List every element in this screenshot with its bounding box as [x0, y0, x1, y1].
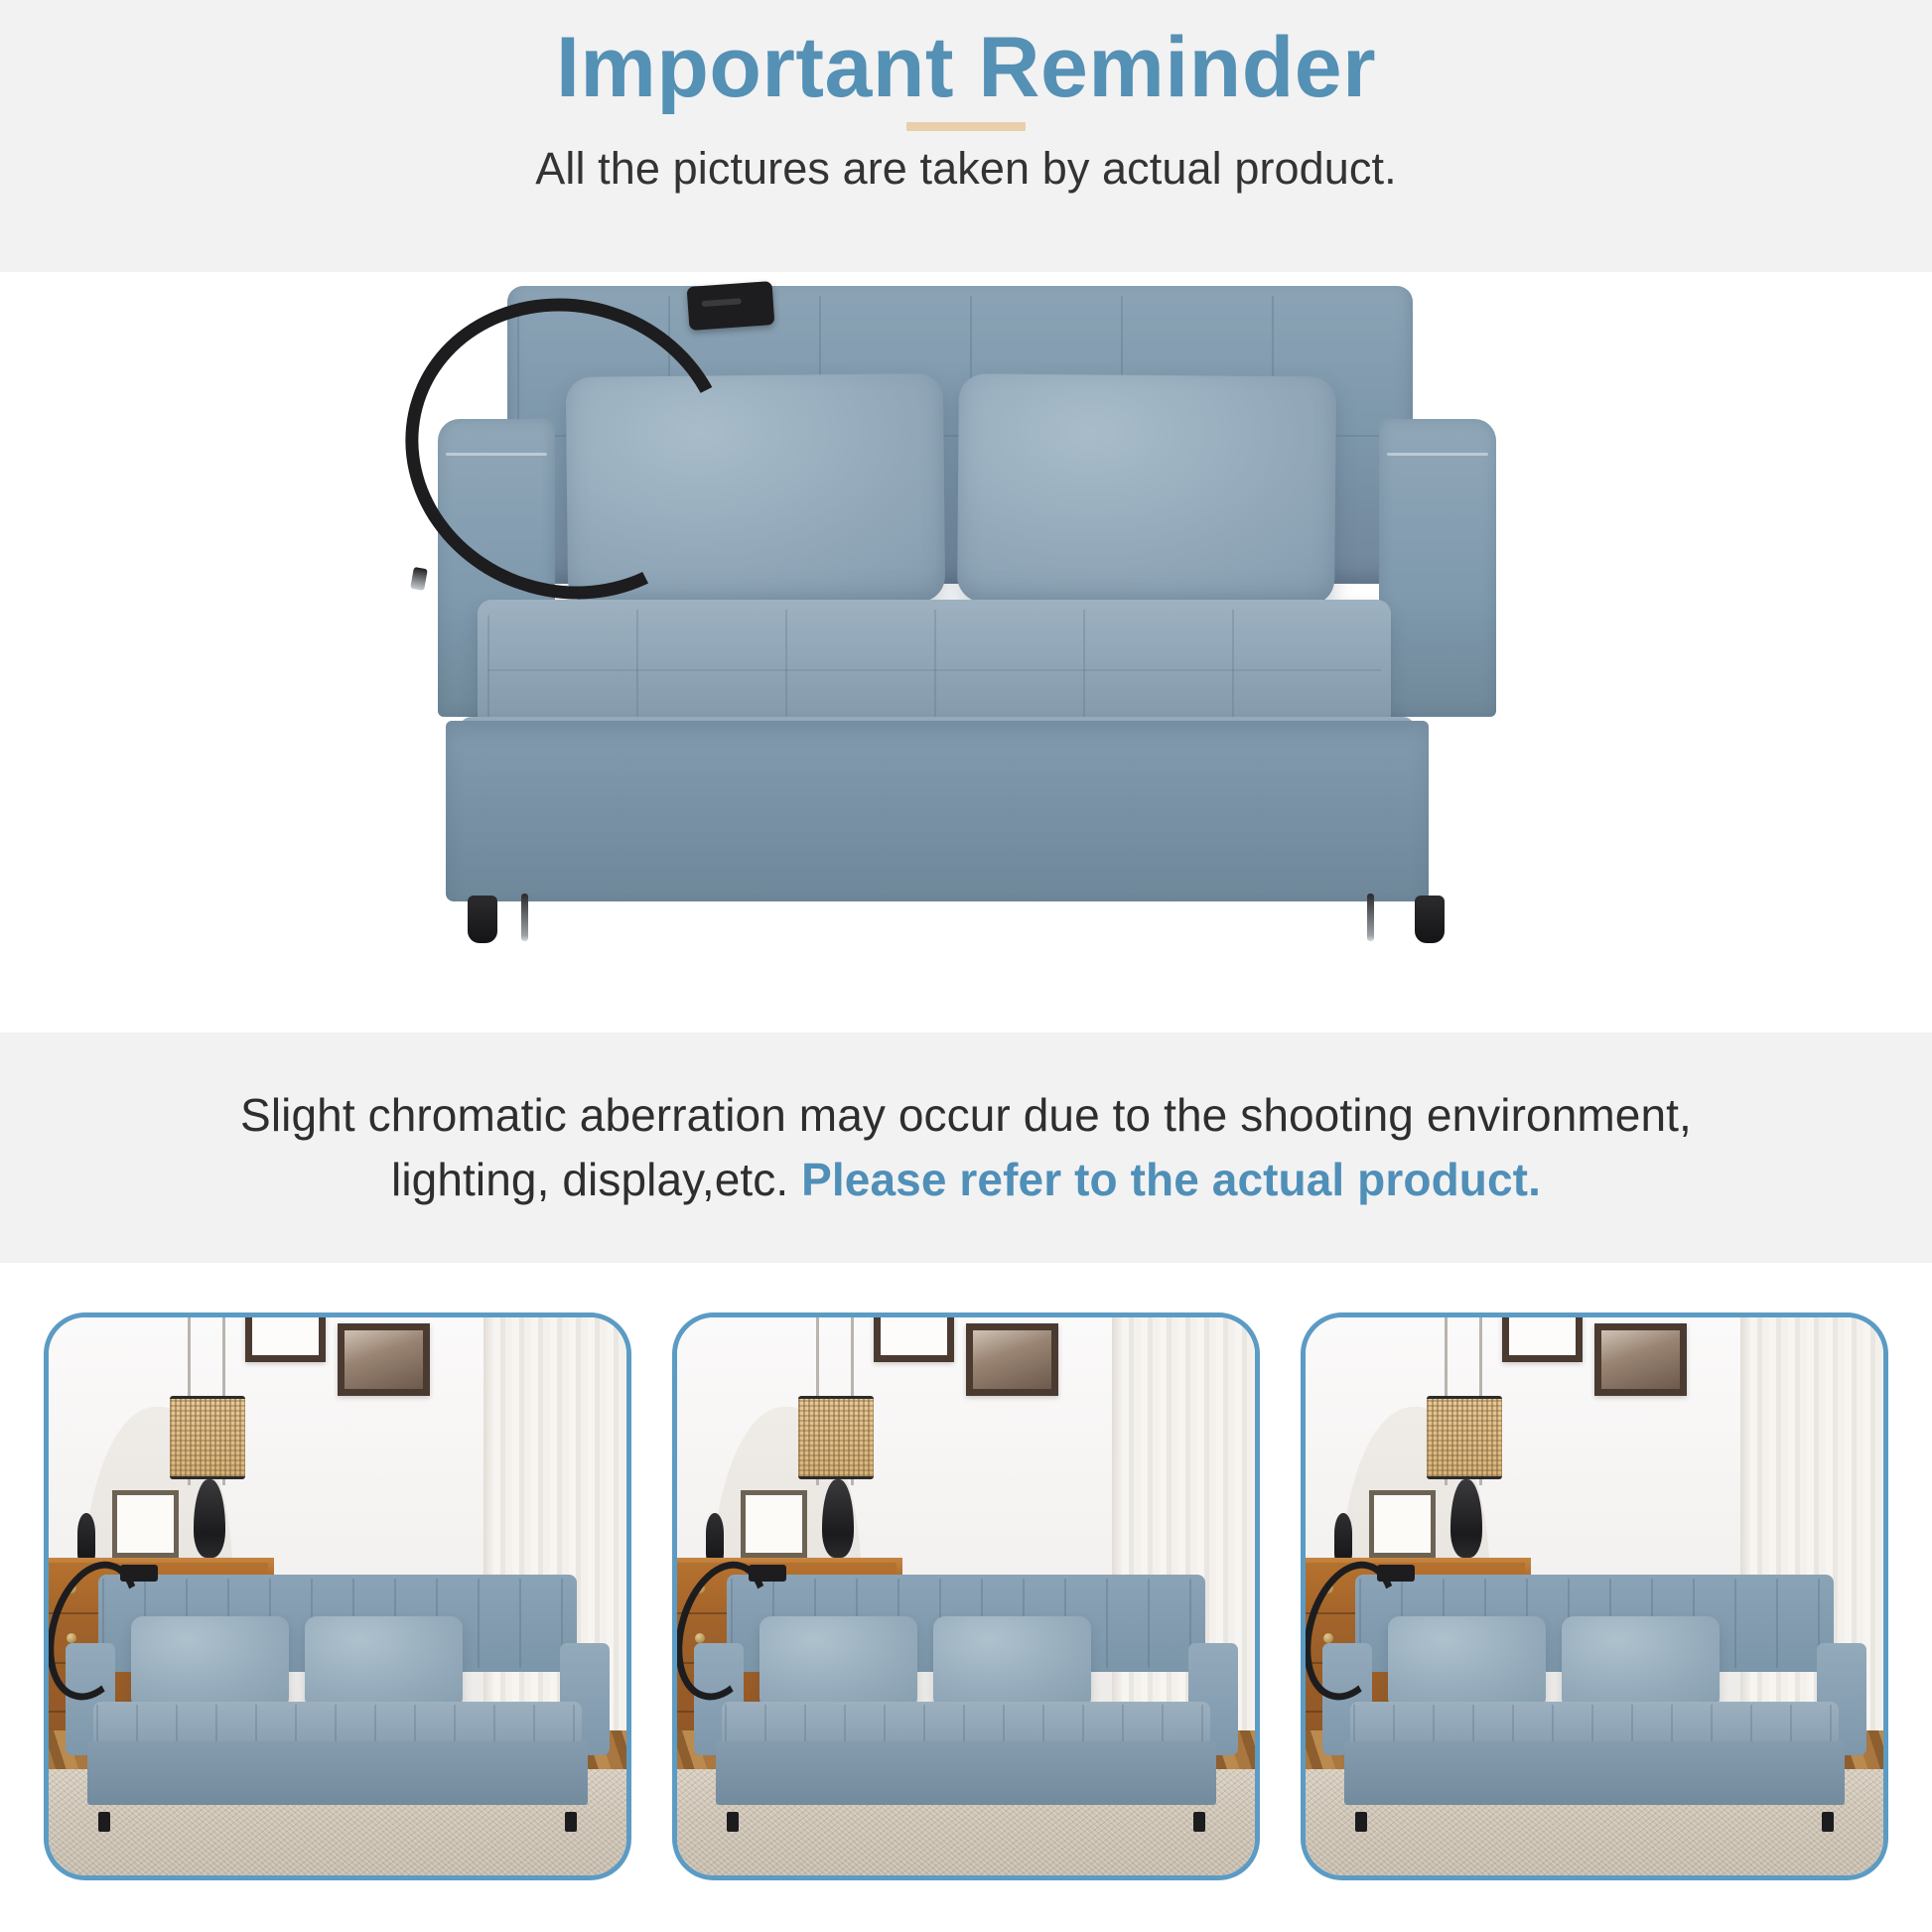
room-scene-1	[49, 1317, 626, 1875]
sofa-leg-right	[1415, 896, 1445, 943]
sofa-leg-left	[468, 896, 497, 943]
wall-frame-large	[1594, 1323, 1687, 1396]
wall-frame-small	[1502, 1317, 1583, 1362]
sofa-pullout-base	[446, 721, 1429, 901]
header-band: Important Reminder All the pictures are …	[0, 0, 1932, 272]
wall-frame-large	[338, 1323, 430, 1396]
hero-stage	[390, 272, 1542, 1033]
thumbnail-gooseneck-head-2	[749, 1565, 786, 1582]
gooseneck-mount-icon	[687, 281, 775, 331]
wall-frame-small	[874, 1317, 954, 1362]
disclaimer-line-2-plain: lighting, display,etc.	[391, 1154, 788, 1205]
lamp-base	[194, 1479, 225, 1558]
wall-frame-small	[245, 1317, 326, 1362]
tabletop-photo-frame	[1369, 1490, 1436, 1557]
thumbnail-gooseneck-head-3	[1377, 1565, 1415, 1582]
rattan-lamp-shade	[170, 1396, 245, 1479]
hero-product-image	[0, 272, 1932, 1033]
rattan-lamp-shade	[798, 1396, 874, 1479]
thumbnail-card-3[interactable]	[1301, 1312, 1888, 1880]
sofa-caster-right	[1367, 894, 1374, 941]
thumbnail-row	[44, 1312, 1888, 1880]
room-scene-2	[677, 1317, 1255, 1875]
marketing-page: Important Reminder All the pictures are …	[0, 0, 1932, 1932]
tabletop-photo-frame	[112, 1490, 179, 1557]
decor-figurine	[706, 1513, 723, 1564]
sofa-pillow-right	[957, 373, 1336, 605]
room-scene-3	[1306, 1317, 1883, 1875]
sofa-arm-right	[1379, 419, 1496, 717]
sofa-caster-left	[521, 894, 528, 941]
wall-frame-large	[966, 1323, 1058, 1396]
page-subtitle: All the pictures are taken by actual pro…	[535, 143, 1396, 195]
title-divider	[906, 122, 1026, 131]
page-title: Important Reminder	[556, 22, 1376, 114]
decor-figurine	[77, 1513, 94, 1564]
thumbnail-card-1[interactable]	[44, 1312, 631, 1880]
disclaimer-line-1: Slight chromatic aberration may occur du…	[240, 1083, 1692, 1148]
decor-figurine	[1334, 1513, 1351, 1564]
loveseat-sofa-illustration	[390, 272, 1542, 1033]
lamp-base	[1450, 1479, 1482, 1558]
tabletop-photo-frame	[741, 1490, 807, 1557]
lamp-base	[822, 1479, 854, 1558]
thumbnail-gooseneck-head-1	[120, 1565, 158, 1582]
thumbnail-card-2[interactable]	[672, 1312, 1260, 1880]
disclaimer-band: Slight chromatic aberration may occur du…	[0, 1033, 1932, 1263]
rattan-lamp-shade	[1427, 1396, 1502, 1479]
gooseneck-tip-icon	[410, 567, 428, 591]
thumbnail-sofa-3	[1322, 1575, 1865, 1820]
thumbnail-sofa-1	[66, 1575, 609, 1820]
disclaimer-accent: Please refer to the actual product.	[801, 1154, 1541, 1205]
disclaimer-line-2: lighting, display,etc. Please refer to t…	[391, 1148, 1541, 1212]
thumbnail-sofa-2	[694, 1575, 1237, 1820]
